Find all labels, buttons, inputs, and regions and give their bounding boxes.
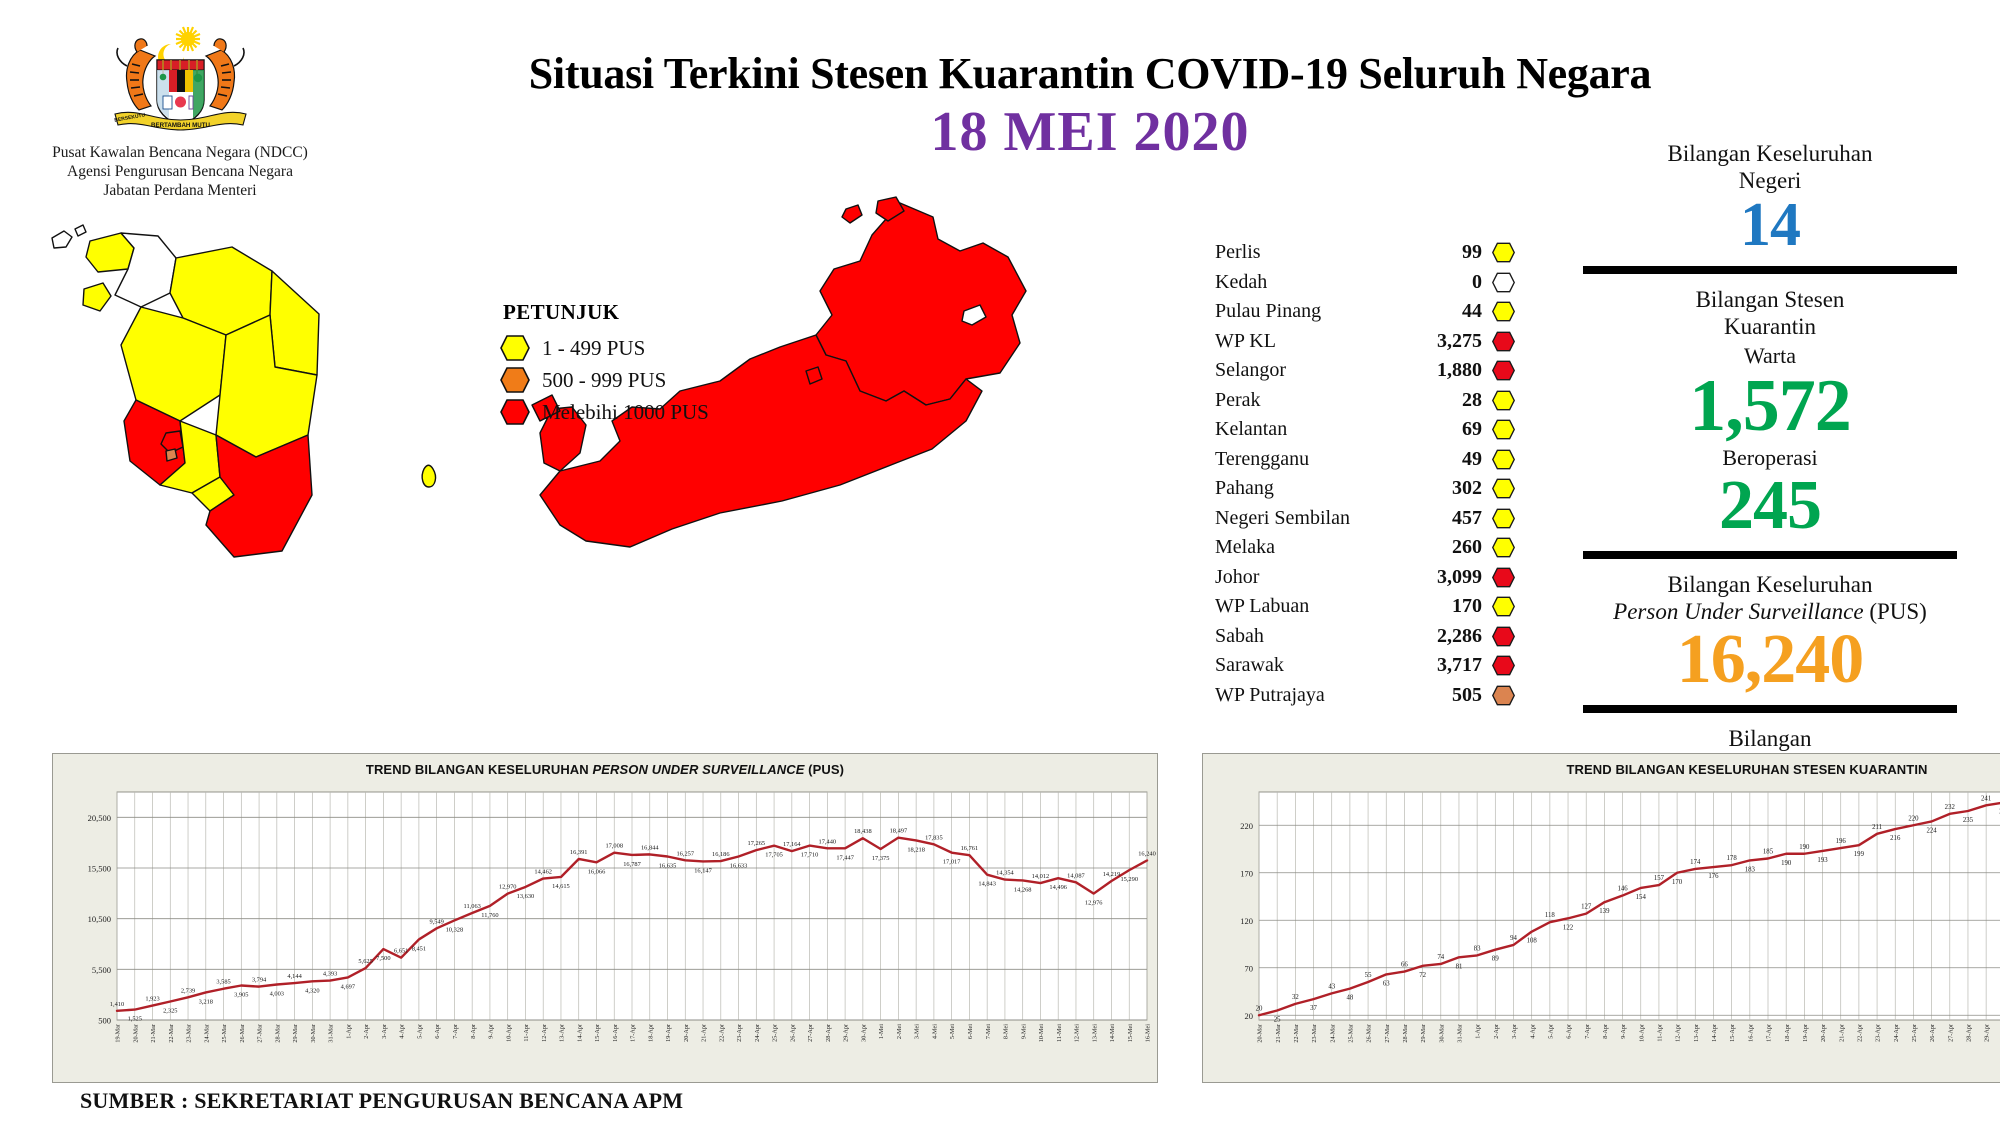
hexagon-icon bbox=[1492, 449, 1515, 470]
x-tick-label: 23-Apr bbox=[1875, 1024, 1882, 1042]
data-label: 14,087 bbox=[1067, 872, 1085, 879]
state-row: Melaka260 bbox=[1215, 533, 1515, 563]
stesen-caption: Bilangan Stesen Kuarantin bbox=[1555, 286, 1985, 340]
data-label: 4,393 bbox=[323, 971, 337, 978]
x-tick-label: 9-Mei bbox=[1020, 1024, 1027, 1039]
negeri-caption: Bilangan Keseluruhan Negeri bbox=[1555, 140, 1985, 194]
data-label: 235 bbox=[1963, 817, 1974, 824]
chart-left-plot: 5005,50010,50015,50020,5001,4101,5251,92… bbox=[53, 754, 1157, 1082]
data-label: 3,218 bbox=[199, 998, 213, 1005]
state-value: 1,880 bbox=[1416, 359, 1492, 382]
hexagon-icon bbox=[500, 335, 530, 361]
data-label: 17,705 bbox=[765, 852, 783, 859]
state-row: Pahang302 bbox=[1215, 474, 1515, 504]
x-tick-label: 4-Mei bbox=[931, 1024, 938, 1039]
hexagon-icon bbox=[1492, 301, 1515, 322]
map-islet-tioman bbox=[422, 465, 435, 487]
data-label: 43 bbox=[1328, 983, 1335, 990]
data-label: 220 bbox=[1908, 815, 1919, 822]
data-label: 3,585 bbox=[216, 979, 230, 986]
hexagon-icon bbox=[1492, 478, 1515, 499]
data-label: 196 bbox=[1836, 838, 1847, 845]
hexagon-icon bbox=[1492, 567, 1515, 588]
data-label: 15,290 bbox=[1120, 876, 1138, 883]
divider-1 bbox=[1583, 266, 1957, 274]
data-label: 11,063 bbox=[464, 903, 481, 910]
data-label: 17,008 bbox=[605, 843, 623, 850]
data-label: 1,525 bbox=[128, 1016, 142, 1023]
x-tick-label: 15-Apr bbox=[1729, 1024, 1736, 1042]
y-tick-label: 5,500 bbox=[92, 965, 111, 975]
discaj-caption-line1: Bilangan bbox=[1555, 725, 1985, 752]
state-value: 28 bbox=[1416, 389, 1492, 412]
x-tick-label: 27-Mar bbox=[257, 1024, 264, 1043]
x-tick-label: 22-Mar bbox=[1293, 1024, 1300, 1043]
x-tick-label: 3-Mei bbox=[914, 1024, 921, 1039]
state-value: 2,286 bbox=[1416, 625, 1492, 648]
x-tick-label: 1-Apr bbox=[1475, 1024, 1482, 1039]
pus-caption-tail: (PUS) bbox=[1864, 599, 1927, 624]
data-label: 157 bbox=[1654, 875, 1665, 882]
beroperasi-value: 245 bbox=[1555, 471, 1985, 541]
legend-item-2: Melebihi 1000 PUS bbox=[500, 396, 800, 428]
x-tick-label: 24-Mar bbox=[203, 1024, 210, 1043]
data-label: 12,976 bbox=[1085, 900, 1103, 907]
map-state-terengganu bbox=[270, 271, 319, 375]
x-tick-label: 13-Apr bbox=[559, 1024, 566, 1042]
data-label: 14,012 bbox=[1032, 873, 1050, 880]
x-tick-label: 31-Mar bbox=[328, 1024, 335, 1043]
x-tick-label: 26-Mar bbox=[239, 1024, 246, 1043]
x-tick-label: 12-Mei bbox=[1074, 1024, 1081, 1042]
x-tick-label: 23-Mar bbox=[186, 1024, 193, 1043]
x-tick-label: 27-Apr bbox=[1947, 1024, 1954, 1042]
legend-label-2: Melebihi 1000 PUS bbox=[542, 400, 709, 425]
infographic-page: BERTAMBAH MUTU BERSEKUTU Pusat Kawalan B… bbox=[0, 0, 2000, 1125]
state-row: Perlis99 bbox=[1215, 238, 1515, 268]
x-tick-label: 7-Apr bbox=[452, 1024, 459, 1039]
data-label: 14,462 bbox=[534, 869, 552, 876]
data-label: 9,549 bbox=[429, 918, 443, 925]
data-label: 48 bbox=[1346, 995, 1353, 1002]
hexagon-icon bbox=[1492, 685, 1515, 706]
map-state-pulau-pinang bbox=[83, 283, 111, 311]
data-label: 74 bbox=[1437, 954, 1444, 961]
y-tick-label: 10,500 bbox=[88, 914, 111, 924]
data-label: 122 bbox=[1563, 924, 1574, 931]
data-label: 17,164 bbox=[783, 841, 801, 848]
data-label: 146 bbox=[1617, 886, 1628, 893]
x-tick-label: 10-Apr bbox=[505, 1024, 512, 1042]
data-label: 16,147 bbox=[694, 867, 712, 874]
x-tick-label: 22-Apr bbox=[718, 1024, 725, 1042]
x-tick-label: 10-Apr bbox=[1638, 1024, 1645, 1042]
divider-2 bbox=[1583, 551, 1957, 559]
x-tick-label: 24-Apr bbox=[754, 1024, 761, 1042]
hexagon-icon bbox=[1492, 626, 1515, 647]
data-label: 32 bbox=[1292, 994, 1299, 1001]
negeri-caption-line2: Negeri bbox=[1555, 167, 1985, 194]
data-label: 185 bbox=[1763, 849, 1774, 856]
x-tick-label: 26-Apr bbox=[789, 1024, 796, 1042]
data-label: 193 bbox=[1817, 857, 1828, 864]
x-tick-label: 4-Apr bbox=[1529, 1024, 1536, 1039]
state-name: Perlis bbox=[1215, 241, 1416, 264]
data-label: 232 bbox=[1945, 804, 1956, 811]
data-label: 108 bbox=[1527, 938, 1538, 945]
negeri-caption-line1: Bilangan Keseluruhan bbox=[1555, 140, 1985, 167]
data-label: 25 bbox=[1274, 1017, 1281, 1024]
data-label: 16,787 bbox=[623, 861, 641, 868]
x-tick-label: 30-Mar bbox=[1438, 1024, 1445, 1043]
x-tick-label: 5-Apr bbox=[416, 1024, 423, 1039]
x-tick-label: 24-Apr bbox=[1893, 1024, 1900, 1042]
source-note: SUMBER : SEKRETARIAT PENGURUSAN BENCANA … bbox=[80, 1088, 683, 1114]
x-tick-label: 28-Apr bbox=[1966, 1024, 1973, 1042]
x-tick-label: 2-Apr bbox=[1493, 1024, 1500, 1039]
state-name: Pahang bbox=[1215, 477, 1416, 500]
y-tick-label: 120 bbox=[1240, 916, 1253, 926]
data-label: 17,440 bbox=[819, 838, 837, 845]
data-label: 4,320 bbox=[305, 987, 319, 994]
x-tick-label: 14-Apr bbox=[576, 1024, 583, 1042]
x-tick-label: 16-Mei bbox=[1145, 1024, 1152, 1042]
data-label: 55 bbox=[1365, 972, 1372, 979]
x-tick-label: 25-Apr bbox=[1911, 1024, 1918, 1042]
data-label: 10,328 bbox=[446, 926, 464, 933]
data-label: 190 bbox=[1781, 860, 1792, 867]
data-label: 66 bbox=[1401, 962, 1408, 969]
state-value: 44 bbox=[1416, 300, 1492, 323]
data-label: 14,354 bbox=[996, 870, 1014, 877]
data-label: 18,218 bbox=[907, 846, 925, 853]
data-label: 211 bbox=[1872, 824, 1882, 831]
hexagon-icon bbox=[1492, 508, 1515, 529]
x-tick-label: 5-Mei bbox=[949, 1024, 956, 1039]
data-label: 183 bbox=[1745, 866, 1756, 873]
state-row: Selangor1,880 bbox=[1215, 356, 1515, 386]
x-tick-label: 20-Mar bbox=[132, 1024, 139, 1043]
data-label: 17,265 bbox=[748, 840, 766, 847]
data-label: 18,438 bbox=[854, 828, 872, 835]
x-tick-label: 6-Mei bbox=[967, 1024, 974, 1039]
x-tick-label: 4-Apr bbox=[399, 1024, 406, 1039]
map-islet-2 bbox=[75, 225, 86, 236]
x-tick-label: 1-Mei bbox=[878, 1024, 885, 1039]
data-label: 170 bbox=[1672, 879, 1683, 886]
y-tick-label: 500 bbox=[98, 1016, 111, 1026]
map-state-wp-putrajaya bbox=[166, 449, 177, 461]
data-label: 4,697 bbox=[341, 983, 356, 990]
data-label: 4,144 bbox=[287, 973, 302, 980]
stesen-caption-line1: Bilangan Stesen bbox=[1555, 286, 1985, 313]
legend-title: PETUNJUK bbox=[503, 300, 800, 325]
x-tick-label: 18-Apr bbox=[1784, 1024, 1791, 1042]
legend-label-0: 1 - 499 PUS bbox=[542, 336, 645, 361]
hexagon-icon bbox=[1492, 331, 1515, 352]
agency-line-2: Agensi Pengurusan Bencana Negara bbox=[30, 163, 330, 182]
x-tick-label: 22-Apr bbox=[1856, 1024, 1863, 1042]
x-tick-label: 29-Mar bbox=[292, 1024, 299, 1043]
x-tick-label: 2-Apr bbox=[363, 1024, 370, 1039]
x-tick-label: 21-Mar bbox=[1275, 1024, 1282, 1043]
pus-caption-italic: Person Under Surveillance bbox=[1613, 599, 1863, 624]
state-value: 0 bbox=[1416, 271, 1492, 294]
data-label: 216 bbox=[1890, 835, 1901, 842]
data-label: 1,923 bbox=[145, 996, 159, 1003]
x-tick-label: 13-Apr bbox=[1693, 1024, 1700, 1042]
state-name: Terengganu bbox=[1215, 448, 1416, 471]
data-label: 8,451 bbox=[412, 945, 426, 952]
data-label: 14,496 bbox=[1049, 884, 1067, 891]
x-tick-label: 16-Apr bbox=[1747, 1024, 1754, 1042]
x-tick-label: 26-Apr bbox=[1929, 1024, 1936, 1042]
hexagon-icon bbox=[1492, 655, 1515, 676]
state-name: Sabah bbox=[1215, 625, 1416, 648]
y-tick-label: 20 bbox=[1245, 1011, 1254, 1021]
x-tick-label: 8-Apr bbox=[1602, 1024, 1609, 1039]
data-label: 16,635 bbox=[659, 862, 677, 869]
data-label: 16,240 bbox=[1138, 851, 1156, 858]
x-tick-label: 7-Apr bbox=[1584, 1024, 1591, 1039]
x-tick-label: 24-Mar bbox=[1329, 1024, 1336, 1043]
x-tick-label: 23-Mar bbox=[1311, 1024, 1318, 1043]
x-tick-label: 25-Apr bbox=[772, 1024, 779, 1042]
x-tick-label: 27-Apr bbox=[807, 1024, 814, 1042]
x-tick-label: 9-Apr bbox=[1620, 1024, 1627, 1039]
data-label: 3,794 bbox=[252, 977, 267, 984]
svg-text:BERTAMBAH MUTU: BERTAMBAH MUTU bbox=[150, 122, 210, 129]
data-label: 17,017 bbox=[943, 859, 961, 866]
x-tick-label: 13-Mei bbox=[1091, 1024, 1098, 1042]
x-tick-label: 11-Mei bbox=[1056, 1024, 1063, 1042]
state-value: 260 bbox=[1416, 536, 1492, 559]
map-islet bbox=[52, 231, 72, 248]
page-title: Situasi Terkini Stesen Kuarantin COVID-1… bbox=[330, 48, 1850, 99]
data-label: 12,970 bbox=[499, 884, 517, 891]
data-label: 241 bbox=[1981, 795, 1991, 802]
x-tick-label: 14-Mei bbox=[1109, 1024, 1116, 1042]
chart-stesen-trend: TREND BILANGAN KESELURUHAN STESEN KUARAN… bbox=[1202, 753, 2000, 1083]
data-label: 94 bbox=[1510, 935, 1517, 942]
data-label: 17,710 bbox=[801, 852, 819, 859]
x-tick-label: 20-Apr bbox=[683, 1024, 690, 1042]
divider-3 bbox=[1583, 705, 1957, 713]
x-tick-label: 19-Apr bbox=[665, 1024, 672, 1042]
state-name: Perak bbox=[1215, 389, 1416, 412]
y-tick-label: 20,500 bbox=[88, 813, 111, 823]
hexagon-icon bbox=[1492, 272, 1515, 293]
y-tick-label: 170 bbox=[1240, 868, 1253, 878]
state-name: Selangor bbox=[1215, 359, 1416, 382]
x-tick-label: 1-Apr bbox=[345, 1024, 352, 1039]
data-label: 14,268 bbox=[1014, 886, 1032, 893]
data-label: 16,633 bbox=[730, 863, 748, 870]
data-label: 11,760 bbox=[481, 912, 498, 919]
data-label: 2,325 bbox=[163, 1008, 177, 1015]
state-value: 99 bbox=[1416, 241, 1492, 264]
pus-caption-line1: Bilangan Keseluruhan bbox=[1555, 571, 1985, 598]
state-name: Kedah bbox=[1215, 271, 1416, 294]
legend-item-0: 1 - 499 PUS bbox=[500, 332, 800, 364]
x-tick-label: 25-Mar bbox=[221, 1024, 228, 1043]
x-tick-label: 7-Mei bbox=[985, 1024, 992, 1039]
stesen-caption-line2: Kuarantin bbox=[1555, 313, 1985, 340]
state-name: Johor bbox=[1215, 566, 1416, 589]
x-tick-label: 6-Apr bbox=[1566, 1024, 1573, 1039]
data-label: 13,630 bbox=[517, 893, 535, 900]
data-label: 16,066 bbox=[588, 868, 606, 875]
data-label: 139 bbox=[1599, 908, 1610, 915]
hexagon-icon bbox=[1492, 242, 1515, 263]
x-tick-label: 20-Apr bbox=[1820, 1024, 1827, 1042]
state-row: Pulau Pinang44 bbox=[1215, 297, 1515, 327]
data-label: 4,003 bbox=[270, 991, 284, 998]
hexagon-icon bbox=[500, 399, 530, 425]
state-row: WP Putrajaya505 bbox=[1215, 681, 1515, 711]
state-value: 3,099 bbox=[1416, 566, 1492, 589]
data-label: 72 bbox=[1419, 972, 1426, 979]
state-value: 302 bbox=[1416, 477, 1492, 500]
state-value: 3,717 bbox=[1416, 654, 1492, 677]
x-tick-label: 2-Mei bbox=[896, 1024, 903, 1039]
state-name: WP Labuan bbox=[1215, 595, 1416, 618]
state-row: Terengganu49 bbox=[1215, 445, 1515, 475]
data-label: 14,219 bbox=[1103, 871, 1121, 878]
hexagon-icon bbox=[1492, 596, 1515, 617]
x-tick-label: 26-Mar bbox=[1366, 1024, 1373, 1043]
x-tick-label: 3-Apr bbox=[1511, 1024, 1518, 1039]
legend-label-1: 500 - 999 PUS bbox=[542, 368, 666, 393]
data-label: 14,615 bbox=[552, 883, 570, 890]
agency-emblem-block: BERTAMBAH MUTU BERSEKUTU Pusat Kawalan B… bbox=[30, 22, 330, 201]
x-tick-label: 11-Apr bbox=[1657, 1024, 1664, 1042]
state-name: Sarawak bbox=[1215, 654, 1416, 677]
x-tick-label: 17-Apr bbox=[1766, 1024, 1773, 1042]
x-tick-label: 5-Apr bbox=[1547, 1024, 1554, 1039]
data-label: 190 bbox=[1799, 844, 1810, 851]
data-label: 17,447 bbox=[836, 854, 854, 861]
state-row: WP Labuan170 bbox=[1215, 592, 1515, 622]
x-tick-label: 15-Mei bbox=[1127, 1024, 1134, 1042]
x-tick-label: 9-Apr bbox=[488, 1024, 495, 1039]
data-label: 17,375 bbox=[872, 855, 890, 862]
map-legend: PETUNJUK 1 - 499 PUS 500 - 999 PUS Meleb… bbox=[500, 300, 800, 428]
x-tick-label: 19-Mar bbox=[115, 1024, 122, 1043]
x-tick-label: 29-Mar bbox=[1420, 1024, 1427, 1043]
state-row: Kelantan69 bbox=[1215, 415, 1515, 445]
state-value: 457 bbox=[1416, 507, 1492, 530]
hexagon-icon bbox=[1492, 390, 1515, 411]
data-label: 63 bbox=[1383, 980, 1390, 987]
pus-value: 16,240 bbox=[1555, 625, 1985, 695]
x-tick-label: 29-Apr bbox=[1984, 1024, 1991, 1042]
data-label: 178 bbox=[1727, 855, 1738, 862]
x-tick-label: 20-Mar bbox=[1257, 1024, 1264, 1043]
data-label: 83 bbox=[1474, 945, 1481, 952]
data-label: 5,625 bbox=[358, 958, 372, 965]
data-label: 118 bbox=[1545, 912, 1556, 919]
state-value: 170 bbox=[1416, 595, 1492, 618]
x-tick-label: 18-Apr bbox=[647, 1024, 654, 1042]
x-tick-label: 31-Mar bbox=[1457, 1024, 1464, 1043]
data-label: 1,410 bbox=[110, 1001, 124, 1008]
x-tick-label: 25-Mar bbox=[1347, 1024, 1354, 1043]
data-label: 17,835 bbox=[925, 834, 943, 841]
state-value: 3,275 bbox=[1416, 330, 1492, 353]
state-name: WP KL bbox=[1215, 330, 1416, 353]
malaysia-coat-of-arms-icon: BERTAMBAH MUTU BERSEKUTU bbox=[93, 22, 268, 140]
data-label: 16,186 bbox=[712, 851, 730, 858]
x-tick-label: 30-Apr bbox=[860, 1024, 867, 1042]
x-tick-label: 11-Apr bbox=[523, 1024, 530, 1042]
data-label: 18,497 bbox=[890, 828, 908, 835]
pus-caption: Bilangan Keseluruhan Person Under Survei… bbox=[1555, 571, 1985, 625]
data-label: 16,844 bbox=[641, 844, 659, 851]
y-tick-label: 70 bbox=[1245, 963, 1254, 973]
state-name: Pulau Pinang bbox=[1215, 300, 1416, 323]
x-tick-label: 12-Apr bbox=[1675, 1024, 1682, 1042]
data-label: 174 bbox=[1690, 859, 1701, 866]
data-label: 16,391 bbox=[570, 849, 588, 856]
data-label: 16,257 bbox=[676, 850, 694, 857]
hexagon-icon bbox=[1492, 537, 1515, 558]
data-label: 6,651 bbox=[394, 948, 408, 955]
chart-right-plot: 2070120170220202532374348556366727481838… bbox=[1203, 754, 2000, 1082]
data-label: 37 bbox=[1310, 1005, 1317, 1012]
data-label: 14,843 bbox=[978, 881, 996, 888]
x-tick-label: 21-Apr bbox=[701, 1024, 708, 1042]
data-label: 20 bbox=[1256, 1005, 1263, 1012]
x-tick-label: 14-Apr bbox=[1711, 1024, 1718, 1042]
y-tick-label: 220 bbox=[1240, 821, 1253, 831]
x-tick-label: 29-Apr bbox=[843, 1024, 850, 1042]
data-label: 176 bbox=[1708, 873, 1719, 880]
state-name: Kelantan bbox=[1215, 418, 1416, 441]
state-value: 49 bbox=[1416, 448, 1492, 471]
state-name: WP Putrajaya bbox=[1215, 684, 1416, 707]
x-tick-label: 23-Apr bbox=[736, 1024, 743, 1042]
x-tick-label: 28-Mar bbox=[1402, 1024, 1409, 1043]
data-label: 127 bbox=[1581, 904, 1592, 911]
state-value: 505 bbox=[1416, 684, 1492, 707]
state-row: Sarawak3,717 bbox=[1215, 651, 1515, 681]
x-tick-label: 28-Apr bbox=[825, 1024, 832, 1042]
x-tick-label: 22-Mar bbox=[168, 1024, 175, 1043]
agency-line-1: Pusat Kawalan Bencana Negara (NDCC) bbox=[30, 144, 330, 163]
legend-item-1: 500 - 999 PUS bbox=[500, 364, 800, 396]
state-row: Sabah2,286 bbox=[1215, 622, 1515, 652]
x-tick-label: 27-Mar bbox=[1384, 1024, 1391, 1043]
data-label: 81 bbox=[1456, 963, 1463, 970]
chart-pus-trend: TREND BILANGAN KESELURUHAN PERSON UNDER … bbox=[52, 753, 1158, 1083]
state-row: Negeri Sembilan457 bbox=[1215, 504, 1515, 534]
x-tick-label: 12-Apr bbox=[541, 1024, 548, 1042]
state-row: WP KL3,275 bbox=[1215, 327, 1515, 357]
state-row: Johor3,099 bbox=[1215, 563, 1515, 593]
data-label: 7,500 bbox=[376, 955, 390, 962]
map-island-balambangan bbox=[842, 205, 862, 223]
data-label: 2,739 bbox=[181, 987, 195, 994]
y-tick-label: 15,500 bbox=[88, 864, 111, 874]
state-name: Negeri Sembilan bbox=[1215, 507, 1416, 530]
x-tick-label: 19-Apr bbox=[1802, 1024, 1809, 1042]
x-tick-label: 30-Mar bbox=[310, 1024, 317, 1043]
hexagon-icon bbox=[1492, 419, 1515, 440]
x-tick-label: 6-Apr bbox=[434, 1024, 441, 1039]
data-label: 3,905 bbox=[234, 991, 248, 998]
data-label: 224 bbox=[1927, 827, 1938, 834]
